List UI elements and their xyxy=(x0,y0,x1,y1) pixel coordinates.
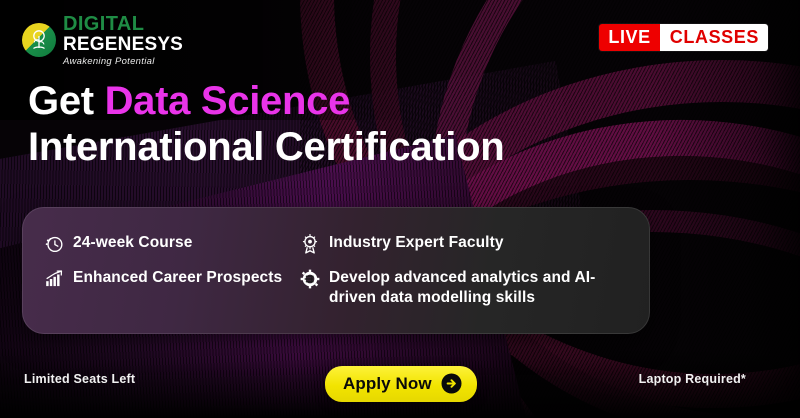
limited-seats-note: Limited Seats Left xyxy=(24,372,135,386)
headline-accent: Data Science xyxy=(105,79,350,123)
feature-item-ai-analytics: Develop advanced analytics and AI-driven… xyxy=(300,268,630,308)
feature-label: Industry Expert Faculty xyxy=(329,233,504,253)
feature-item-faculty: Industry Expert Faculty xyxy=(300,233,630,254)
headline-line-2: International Certification xyxy=(28,124,504,170)
bar-chart-growth-icon xyxy=(44,269,64,289)
ai-gear-icon xyxy=(300,269,320,289)
badge-segment-classes: CLASSES xyxy=(660,24,768,51)
brand-logo[interactable]: DIGITAL REGENESYS Awakening Potential xyxy=(22,14,183,67)
feature-item-career-prospects: Enhanced Career Prospects xyxy=(44,268,300,308)
promo-banner: DIGITAL REGENESYS Awakening Potential LI… xyxy=(0,0,800,418)
background-fade-right xyxy=(650,0,800,418)
features-card: 24-week Course Industry Expert Faculty xyxy=(22,207,650,334)
clock-history-icon xyxy=(44,234,64,254)
badge-segment-live: LIVE xyxy=(599,24,659,51)
logo-wordmark: DIGITAL REGENESYS Awakening Potential xyxy=(63,14,183,67)
apply-now-label: Apply Now xyxy=(343,375,432,392)
feature-item-course-duration: 24-week Course xyxy=(44,233,300,254)
apply-now-button[interactable]: Apply Now xyxy=(325,366,477,402)
headline-prefix: Get xyxy=(28,79,105,123)
headline: Get Data Science International Certifica… xyxy=(28,78,504,171)
feature-label: Enhanced Career Prospects xyxy=(73,268,282,288)
laptop-required-note: Laptop Required* xyxy=(639,372,746,386)
feature-label: 24-week Course xyxy=(73,233,192,253)
logo-line-regenesys: REGENESYS xyxy=(63,35,183,54)
feature-label: Develop advanced analytics and AI-driven… xyxy=(329,268,630,308)
award-medal-icon xyxy=(300,234,320,254)
features-grid: 24-week Course Industry Expert Faculty xyxy=(22,207,650,334)
tree-in-circle-icon xyxy=(22,23,56,57)
logo-line-digital: DIGITAL xyxy=(63,14,183,34)
headline-line-1: Get Data Science xyxy=(28,78,504,124)
live-classes-badge: LIVE CLASSES xyxy=(599,24,768,51)
arrow-right-circle-icon xyxy=(441,373,462,394)
logo-tagline: Awakening Potential xyxy=(63,57,183,67)
